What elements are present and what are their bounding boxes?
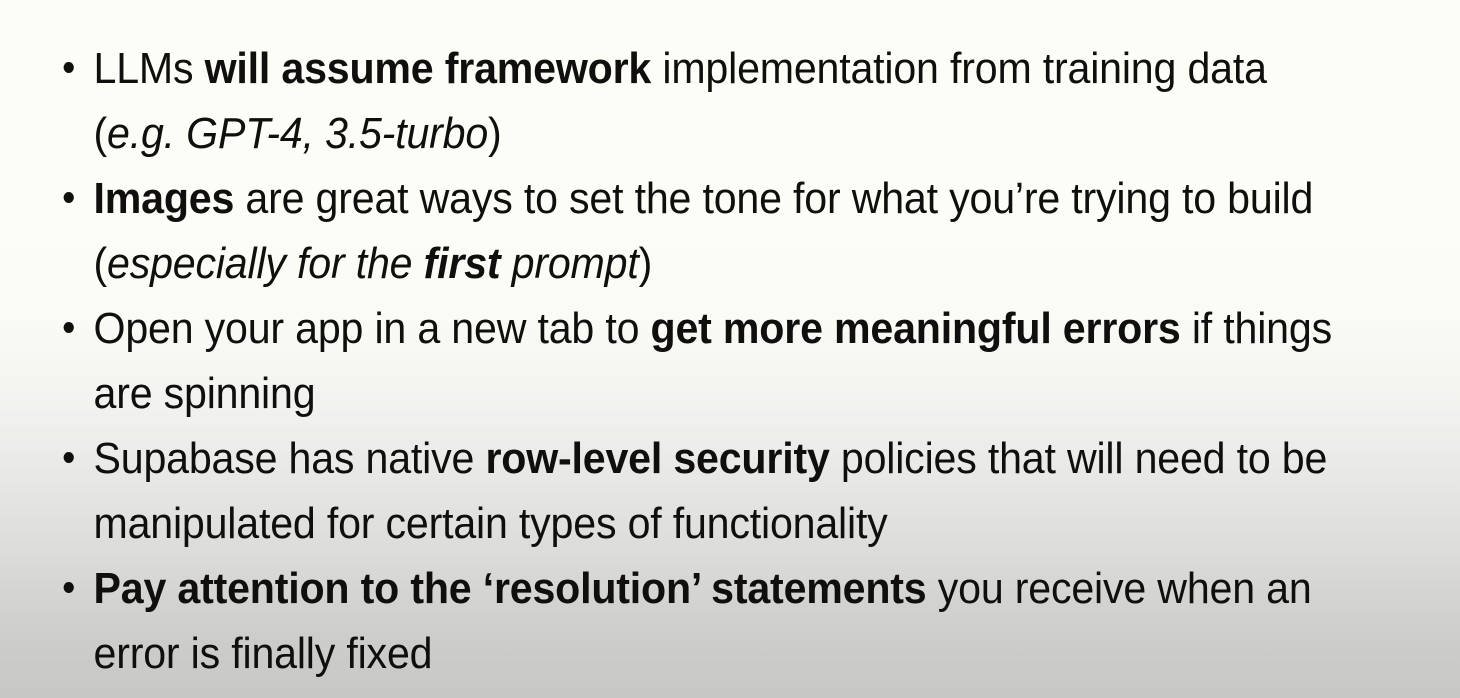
bullet-list: LLMs will assume framework implementatio… [0,36,1460,686]
bullet-item: Pay attention to the ‘resolution’ statem… [0,556,1365,686]
bullet-text: LLMs will assume framework implementatio… [94,36,1347,166]
bullet-point-icon [64,192,74,203]
bullet-text: Pay attention to the ‘resolution’ statem… [94,556,1347,686]
slide-canvas: LLMs will assume framework implementatio… [0,0,1460,698]
bullet-item: LLMs will assume framework implementatio… [0,36,1365,166]
bullet-text: Images are great ways to set the tone fo… [94,166,1347,296]
bullet-text: Open your app in a new tab to get more m… [94,296,1347,426]
bullet-point-icon [64,452,74,463]
bullet-item: Open your app in a new tab to get more m… [0,296,1365,426]
bullet-text: Supabase has native row-level security p… [94,426,1347,556]
bullet-point-icon [64,62,74,73]
bullet-point-icon [64,322,74,333]
bullet-item: Supabase has native row-level security p… [0,426,1365,556]
bullet-item: Images are great ways to set the tone fo… [0,166,1365,296]
bullet-point-icon [64,582,74,593]
